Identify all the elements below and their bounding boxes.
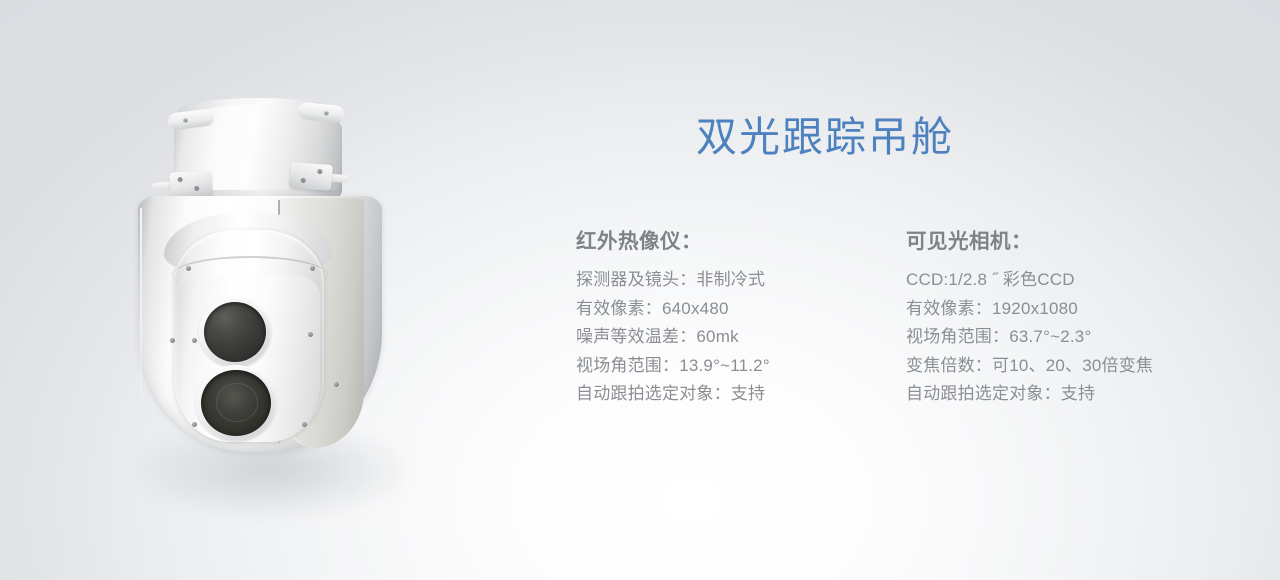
housing-screw <box>170 338 175 343</box>
spec-content: 双光跟踪吊舱 红外热像仪： 探测器及镜头：非制冷式 有效像素：640x480 噪… <box>576 108 1236 409</box>
page-title: 双光跟踪吊舱 <box>696 108 1236 166</box>
lens-glass <box>201 370 271 436</box>
product-banner: 双光跟踪吊舱 红外热像仪： 探测器及镜头：非制冷式 有效像素：640x480 噪… <box>0 0 1280 580</box>
lens-glass <box>204 302 266 362</box>
spec-line: CCD:1/2.8 ˝ 彩色CCD <box>906 266 1236 295</box>
gimbal-camera-device <box>112 70 442 450</box>
housing-screw <box>308 332 313 337</box>
spec-group-thermal: 红外热像仪： 探测器及镜头：非制冷式 有效像素：640x480 噪声等效温差：6… <box>576 224 906 409</box>
spec-line: 自动跟拍选定对象：支持 <box>576 380 906 409</box>
spec-line: 有效像素：640x480 <box>576 295 906 324</box>
housing-screw <box>192 422 197 427</box>
spec-line: 视场角范围：63.7°~2.3° <box>906 323 1236 352</box>
spec-group-visible: 可见光相机： CCD:1/2.8 ˝ 彩色CCD 有效像素：1920x1080 … <box>906 224 1236 409</box>
spec-line: 有效像素：1920x1080 <box>906 295 1236 324</box>
product-image <box>112 70 442 490</box>
spec-line: 探测器及镜头：非制冷式 <box>576 266 906 295</box>
housing-screw <box>186 266 191 271</box>
spec-heading: 可见光相机： <box>906 224 1236 254</box>
gimbal-left-edge <box>140 208 142 430</box>
visible-lens <box>201 370 271 436</box>
thermal-lens <box>204 302 266 362</box>
spec-line: 变焦倍数：可10、20、30倍变焦 <box>906 352 1236 381</box>
spec-line: 自动跟拍选定对象：支持 <box>906 380 1236 409</box>
spec-line: 噪声等效温差：60mk <box>576 323 906 352</box>
spec-heading: 红外热像仪： <box>576 224 906 254</box>
housing-screw <box>334 382 339 387</box>
housing-screw <box>302 422 307 427</box>
bracket-plate <box>169 170 213 199</box>
housing-screw <box>310 266 315 271</box>
side-bracket-right <box>287 160 349 194</box>
housing-screw <box>192 338 197 343</box>
spec-line: 视场角范围：13.9°~11.2° <box>576 352 906 381</box>
spec-columns: 红外热像仪： 探测器及镜头：非制冷式 有效像素：640x480 噪声等效温差：6… <box>576 224 1236 409</box>
bracket-plate <box>289 162 333 191</box>
